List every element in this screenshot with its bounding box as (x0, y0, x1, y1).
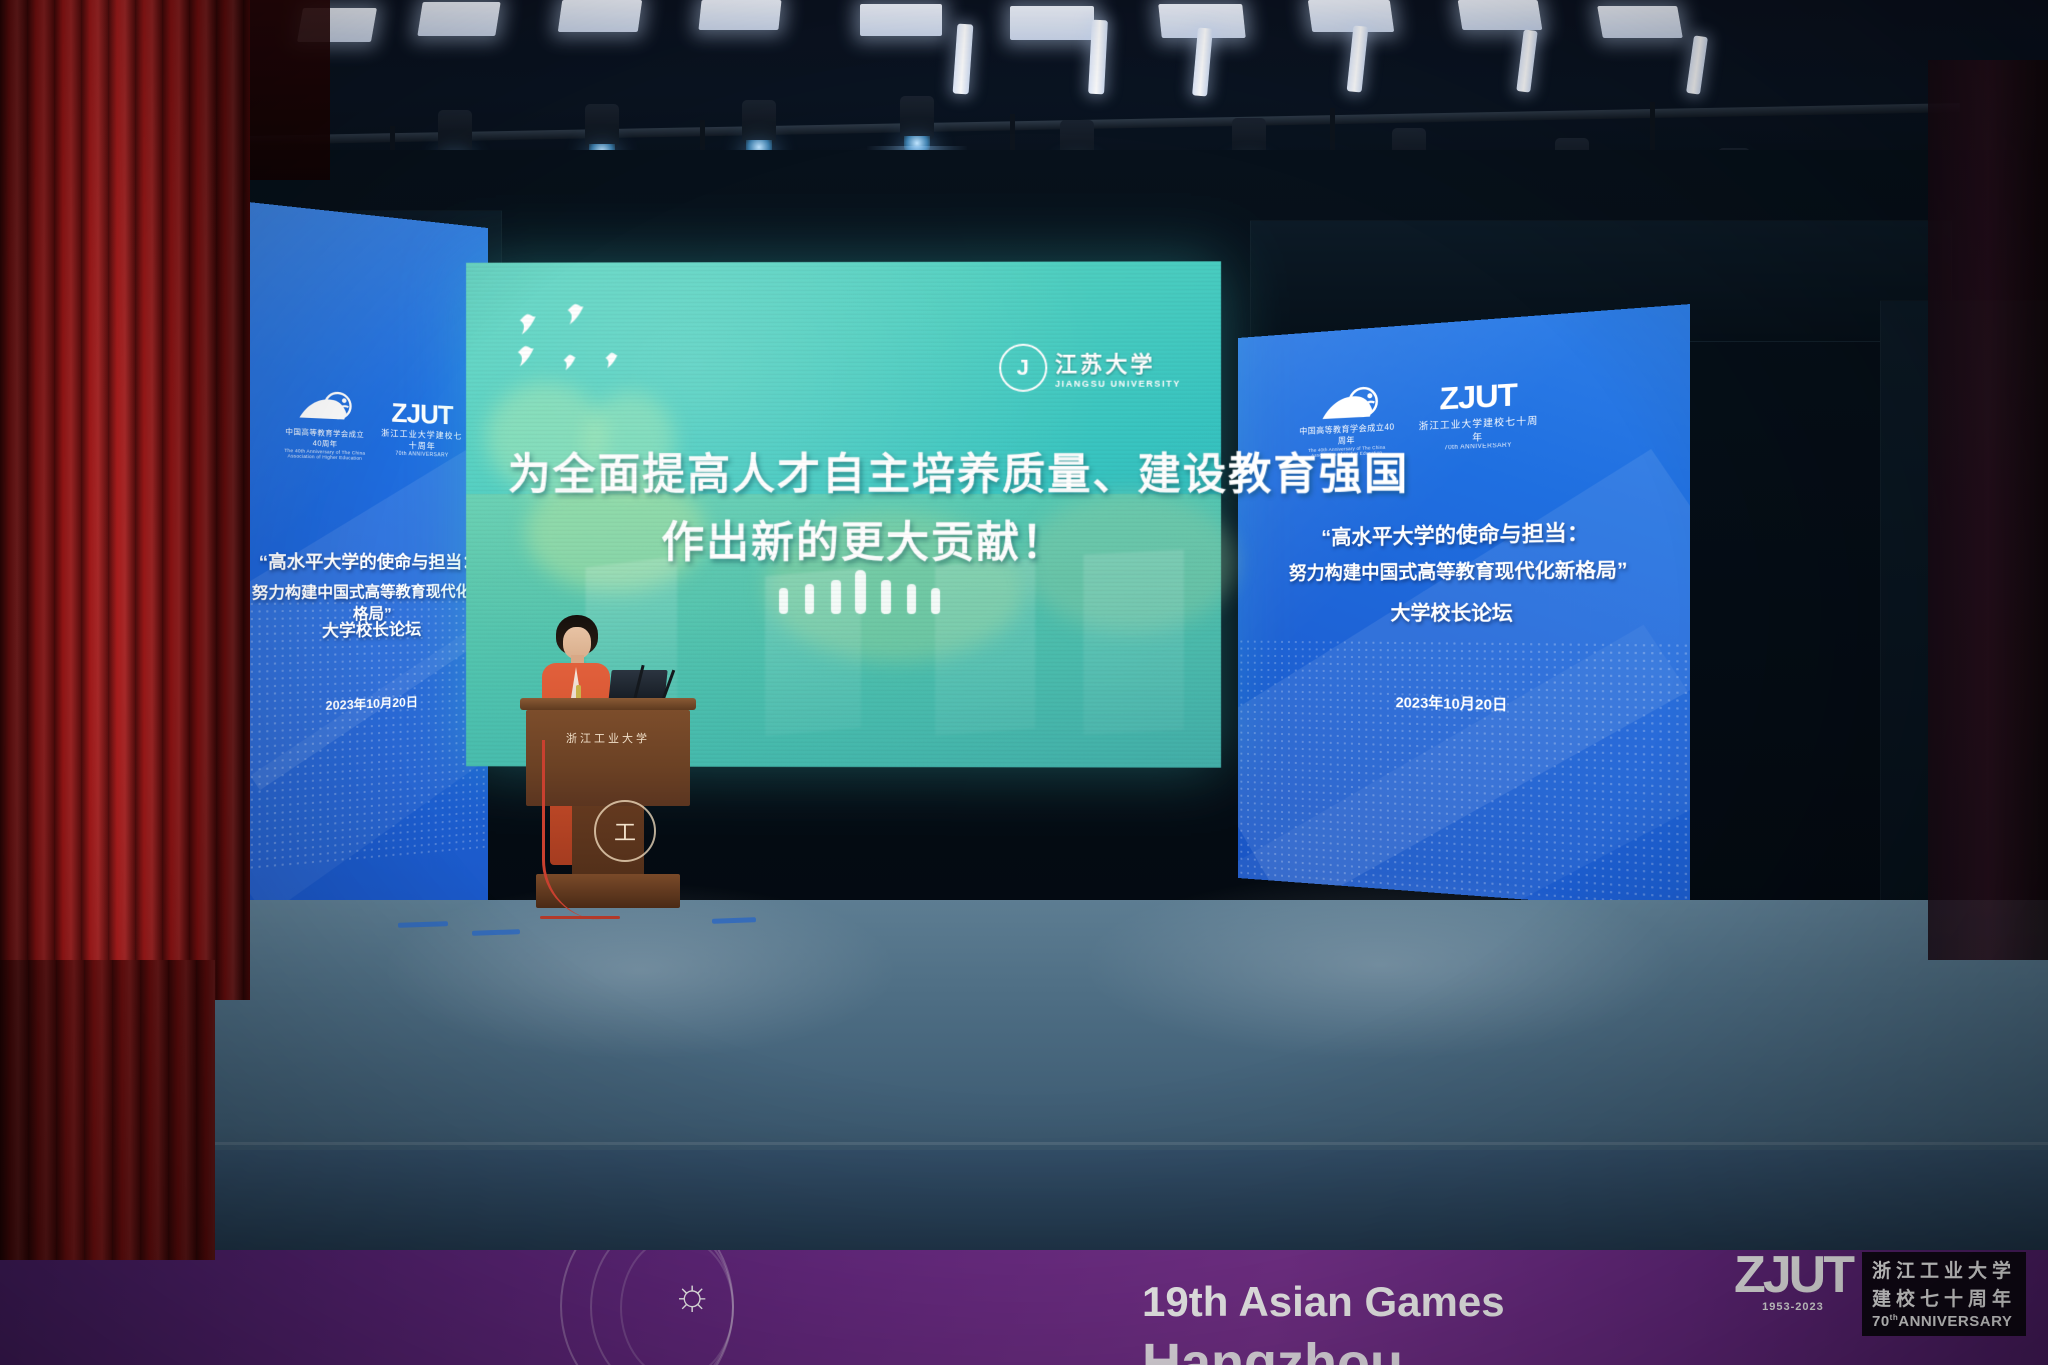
panel-light (1597, 6, 1683, 38)
panel-light (417, 2, 500, 36)
zjut-watermark-cn2: 建校七十周年 (1872, 1284, 2016, 1311)
zjut-watermark-cn1: 浙江工业大学 (1872, 1256, 2016, 1283)
wm-en-rest: ANNIVERSARY (1898, 1313, 2012, 1330)
cahe-mark-icon (1320, 382, 1373, 422)
panel-light (1308, 0, 1394, 32)
zjut-logo: ZJUT 浙江工业大学建校七十周年 70th ANNIVERSARY (379, 398, 465, 459)
zjut-mark-text: ZJUT (379, 398, 465, 429)
zjut-watermark-en: 70thANNIVERSARY (1872, 1313, 2016, 1330)
zjut-mark-text: ZJUT (1419, 378, 1539, 417)
panel-light (860, 4, 942, 36)
cahe-text-cn: 中国高等教育学会成立40周年 (281, 426, 368, 450)
zjut-text-cn: 浙江工业大学建校七十周年 (379, 427, 465, 453)
cahe-mark-icon (297, 386, 352, 427)
panel-light (558, 0, 642, 32)
moving-head-light (438, 110, 472, 154)
moving-head-light (742, 100, 776, 144)
left-banner-title-line1: “高水平大学的使命与担当： (248, 546, 488, 573)
podium-cable-floor (540, 916, 620, 919)
moving-head-light (900, 96, 934, 140)
podium-cable (542, 740, 605, 920)
right-banner-title-line2: 努力构建中国式高等教育现代化新格局” (1238, 554, 1690, 586)
floor-light-pool (1080, 870, 1680, 1060)
zjut-logo: ZJUT 浙江工业大学建校七十周年 70th ANNIVERSARY (1419, 378, 1539, 452)
panel-light (1458, 0, 1543, 30)
asian-games-city: Hangzhou (1142, 1332, 1403, 1365)
asian-games-title: 19th Asian Games (1142, 1278, 1505, 1326)
floor-seam (150, 1142, 2048, 1145)
zjut-anniversary-watermark: ZJUT 1953-2023 浙江工业大学 建校七十周年 70thANNIVER… (1734, 1252, 2026, 1336)
podium-seal-glyph: 工 (614, 815, 636, 847)
left-led-banner: 中国高等教育学会成立40周年 The 40th Anniversary of T… (248, 202, 488, 934)
right-led-banner: 中国高等教育学会成立40周年 The 40th Anniversary of T… (1238, 304, 1690, 912)
zjut-watermark-block: 浙江工业大学 建校七十周年 70thANNIVERSARY (1862, 1252, 2026, 1336)
cahe-text-en: The 40th Anniversary of The China Associ… (281, 448, 368, 462)
podium-top (520, 698, 696, 710)
stage-photo: 中国高等教育学会成立40周年 The 40th Anniversary of T… (0, 0, 2048, 1365)
moving-head-light (585, 104, 619, 148)
panel-light (698, 0, 781, 30)
stage-curtain-right (1928, 60, 2048, 960)
wm-en-sup: th (1890, 1313, 1899, 1322)
zjut-watermark-mark: ZJUT (1734, 1252, 1852, 1299)
wm-en-num: 70 (1872, 1313, 1890, 1330)
stage-curtain-left (0, 0, 250, 1000)
cahe-logo: 中国高等教育学会成立40周年 The 40th Anniversary of T… (281, 385, 368, 461)
right-banner-title-line3: 大学校长论坛 (1238, 597, 1690, 627)
panel-light (1010, 6, 1094, 40)
asian-games-emblem-icon: ☼ (672, 1270, 712, 1320)
stage-curtain-left-lower (0, 960, 215, 1260)
